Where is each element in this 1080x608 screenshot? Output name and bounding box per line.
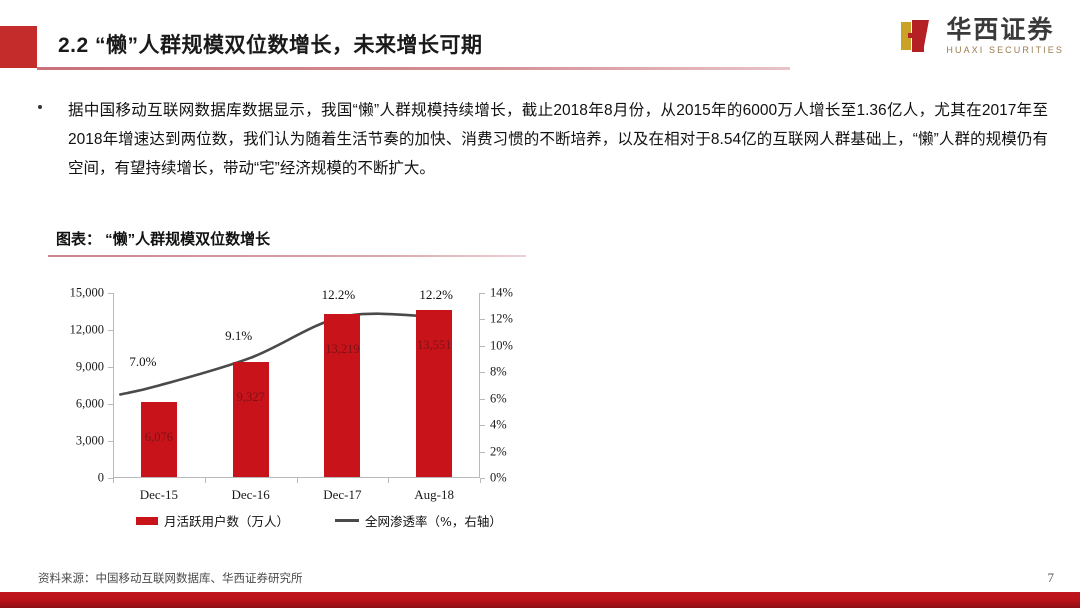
x-axis-label: Dec-17: [323, 487, 361, 503]
y-axis-label-right: 2%: [490, 444, 507, 459]
y-axis-label-right: 10%: [490, 338, 513, 353]
y-axis-tick-left: [108, 441, 113, 442]
chart-caption-divider: [48, 255, 526, 257]
chart-bar-value-label: 6,076: [145, 430, 173, 445]
company-logo: 华西证券 HUAXI SECURITIES: [899, 16, 1064, 56]
chart-bar-value-label: 13,219: [325, 342, 359, 357]
chart-bar: 6,076: [141, 402, 177, 477]
chart-caption: 图表： “懒”人群规模双位数增长: [56, 228, 270, 249]
y-axis-label-right: 0%: [490, 471, 507, 486]
chart-line-value-label: 12.2%: [322, 287, 356, 303]
chart-bar-value-label: 9,327: [237, 390, 265, 405]
body-paragraph: 据中国移动互联网数据库数据显示，我国“懒”人群规模持续增长，截止2018年8月份…: [68, 96, 1048, 183]
x-axis-tick: [388, 478, 389, 483]
legend-label-line: 全网渗透率（%，右轴）: [365, 511, 502, 530]
chart-container: 03,0006,0009,00012,00015,0000%2%4%6%8%10…: [40, 283, 540, 548]
chart-plot-area: 03,0006,0009,00012,00015,0000%2%4%6%8%10…: [113, 293, 480, 478]
legend-swatch-bar-icon: [136, 517, 158, 525]
slide: 2.2 “懒”人群规模双位数增长，未来增长可期 华西证券 HUAXI SECUR…: [0, 0, 1080, 608]
y-axis-tick-right: [480, 319, 485, 320]
x-axis-label: Dec-15: [140, 487, 178, 503]
chart-line-value-label: 7.0%: [129, 354, 156, 370]
y-axis-label-right: 14%: [490, 286, 513, 301]
x-axis-tick: [480, 478, 481, 483]
y-axis-tick-right: [480, 425, 485, 426]
page-title: 2.2 “懒”人群规模双位数增长，未来增长可期: [58, 29, 483, 59]
chart-legend: 月活跃用户数（万人） 全网渗透率（%，右轴）: [136, 511, 502, 530]
chart-line-path: [120, 314, 444, 395]
header-accent-block: [0, 26, 37, 68]
y-axis-label-left: 9,000: [76, 360, 104, 375]
y-axis-tick-right: [480, 372, 485, 373]
legend-item-line: 全网渗透率（%，右轴）: [335, 511, 502, 530]
huaxi-h-logomark: [899, 16, 939, 56]
chart-bar-value-label: 13,551: [417, 338, 451, 353]
logo-en-text: HUAXI SECURITIES: [946, 46, 1064, 55]
x-axis-tick: [297, 478, 298, 483]
x-axis-label: Aug-18: [414, 487, 454, 503]
chart-y-axis-right: [479, 293, 480, 478]
x-axis-tick: [205, 478, 206, 483]
footer-bar: [0, 592, 1080, 608]
y-axis-label-right: 12%: [490, 312, 513, 327]
bullet-dot-icon: [38, 105, 42, 109]
y-axis-tick-left: [108, 330, 113, 331]
chart-bar: 13,551: [416, 310, 452, 477]
y-axis-label-right: 4%: [490, 418, 507, 433]
y-axis-label-left: 12,000: [70, 323, 104, 338]
chart-y-axis-left: [113, 293, 114, 478]
chart-bar: 13,219: [324, 314, 360, 477]
x-axis-tick: [113, 478, 114, 483]
legend-swatch-line-icon: [335, 519, 359, 522]
legend-item-bars: 月活跃用户数（万人）: [136, 511, 289, 530]
y-axis-tick-left: [108, 404, 113, 405]
chart-line-value-label: 12.2%: [419, 287, 453, 303]
y-axis-label-left: 0: [98, 471, 104, 486]
y-axis-label-left: 3,000: [76, 434, 104, 449]
y-axis-tick-left: [108, 293, 113, 294]
y-axis-label-right: 6%: [490, 391, 507, 406]
legend-label-bars: 月活跃用户数（万人）: [164, 511, 289, 530]
page-number: 7: [1048, 570, 1055, 586]
y-axis-tick-right: [480, 346, 485, 347]
chart-bar: 9,327: [233, 362, 269, 477]
header-divider: [37, 67, 790, 70]
chart-line-value-label: 9.1%: [225, 328, 252, 344]
y-axis-tick-left: [108, 367, 113, 368]
x-axis-label: Dec-16: [231, 487, 269, 503]
y-axis-tick-right: [480, 293, 485, 294]
y-axis-label-right: 8%: [490, 365, 507, 380]
y-axis-tick-right: [480, 399, 485, 400]
source-note: 资料来源：中国移动互联网数据库、华西证券研究所: [38, 570, 303, 586]
y-axis-label-left: 6,000: [76, 397, 104, 412]
body-bullet: 据中国移动互联网数据库数据显示，我国“懒”人群规模持续增长，截止2018年8月份…: [38, 96, 1048, 183]
logo-cn-text: 华西证券: [946, 17, 1064, 42]
y-axis-label-left: 15,000: [70, 286, 104, 301]
y-axis-tick-right: [480, 452, 485, 453]
